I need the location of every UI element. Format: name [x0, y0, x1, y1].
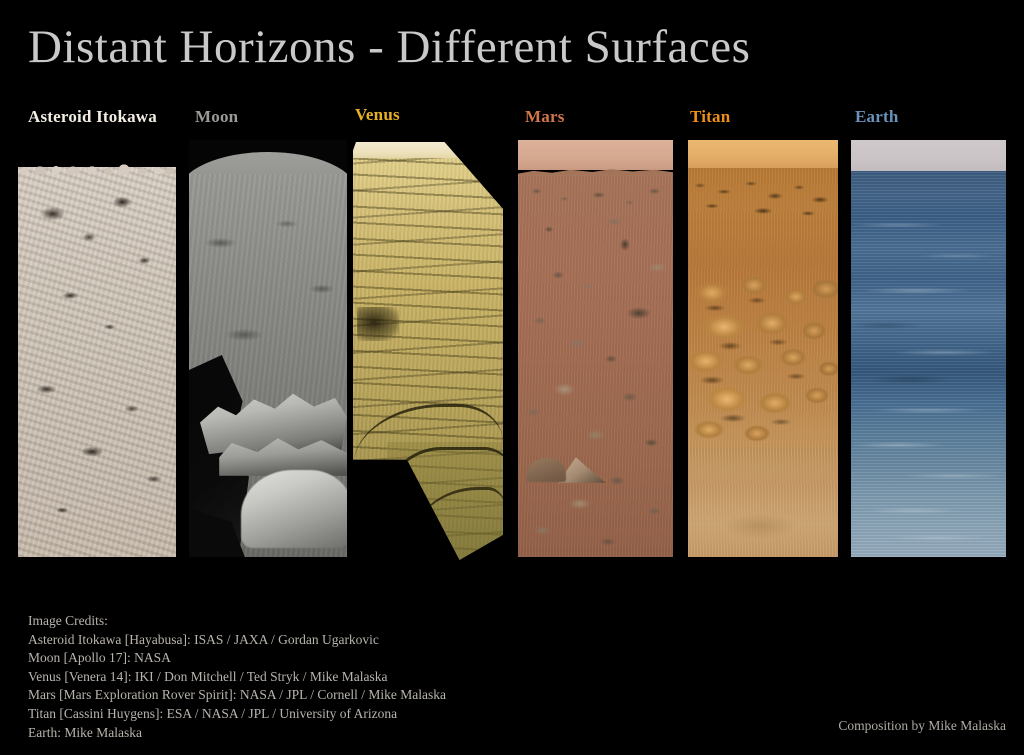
panel-image-earth: [851, 140, 1006, 557]
mars-scattered-rocks: [518, 176, 673, 557]
titan-foreground-sediment: [688, 447, 838, 557]
credit-line-venus: Venus [Venera 14]: IKI / Don Mitchell / …: [28, 668, 446, 687]
venus-dark-patch: [357, 307, 399, 341]
panel-image-venus: [353, 142, 503, 560]
panel-image-titan: [688, 140, 838, 557]
moon-boulder: [241, 470, 347, 548]
panel-image-itokawa: [18, 160, 176, 557]
earth-hazy-sky: [851, 140, 1006, 171]
credit-line-moon: Moon [Apollo 17]: NASA: [28, 649, 446, 668]
panel-label-venus: Venus: [355, 105, 400, 125]
itokawa-regolith-surface: [18, 167, 176, 557]
itokawa-rubble-horizon: [18, 160, 176, 174]
venus-crack-c: [411, 487, 503, 552]
poster-canvas: Distant Horizons - Different Surfaces As…: [0, 0, 1024, 755]
earth-wave-highlights: [851, 171, 1006, 557]
page-title: Distant Horizons - Different Surfaces: [28, 20, 750, 74]
image-credits-block: Image Credits: Asteroid Itokawa [Hayabus…: [28, 612, 446, 742]
titan-distant-pebble-field: [688, 170, 838, 232]
panel-image-moon: [189, 140, 347, 557]
credit-line-titan: Titan [Cassini Huygens]: ESA / NASA / JP…: [28, 705, 446, 724]
panel-label-titan: Titan: [690, 107, 730, 127]
credit-line-earth: Earth: Mike Malaska: [28, 724, 446, 743]
panel-image-mars: [518, 140, 673, 557]
credit-line-itokawa: Asteroid Itokawa [Hayabusa]: ISAS / JAXA…: [28, 631, 446, 650]
mars-dusty-sky: [518, 140, 673, 170]
titan-cobble-shadows: [688, 270, 838, 460]
panel-label-earth: Earth: [855, 107, 899, 127]
composition-credit: Composition by Mike Malaska: [838, 718, 1006, 734]
panel-label-moon: Moon: [195, 107, 238, 127]
credits-heading: Image Credits:: [28, 612, 446, 631]
panel-label-mars: Mars: [525, 107, 565, 127]
panel-label-itokawa: Asteroid Itokawa: [28, 107, 157, 127]
credit-line-mars: Mars [Mars Exploration Rover Spirit]: NA…: [28, 686, 446, 705]
